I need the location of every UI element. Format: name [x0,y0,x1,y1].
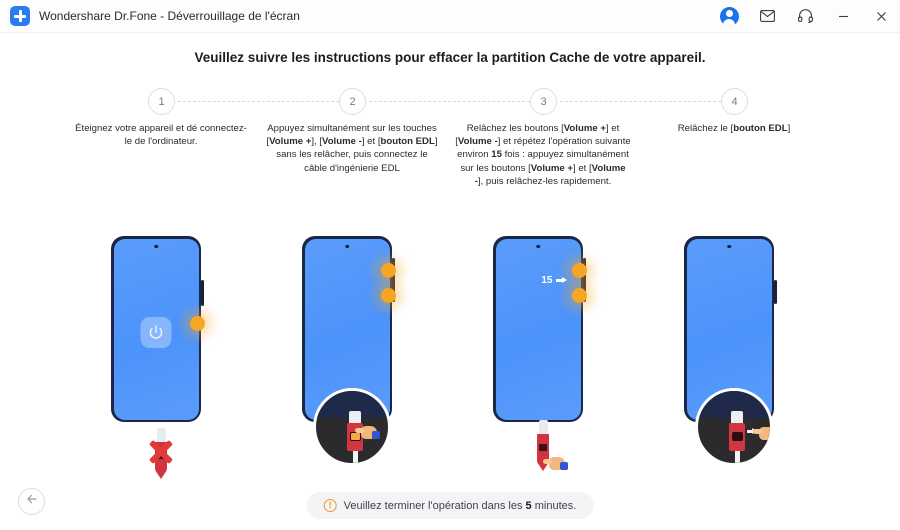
phone-illustration-3: 15 [448,236,638,482]
repeat-count-value: 15 [541,275,552,286]
mail-button[interactable] [748,0,786,33]
camera-dot-icon [536,245,540,249]
account-icon [720,7,739,26]
cable-wire [353,451,358,466]
phone-screen [114,239,199,420]
support-button[interactable] [786,0,824,33]
instruction-step-3: Relâchez les boutons [Volume +] et [Volu… [448,122,638,188]
stepper-connector [178,101,339,102]
cable-tip [731,411,743,423]
timer-notice: ! Veuillez terminer l'opération dans les… [307,492,594,519]
press-highlight-volume-up [572,263,587,278]
magnifier-bubble [695,388,773,466]
hand-cuff [372,431,380,439]
dr-fone-logo-icon [10,6,30,26]
mail-icon [760,10,775,22]
cable-connector [729,423,745,451]
support-headset-icon [798,9,813,23]
arrow-left-icon [25,492,39,511]
press-highlight-volume-down [572,288,587,303]
instruction-columns: Éteignez votre appareil et dé connectez-… [0,122,900,482]
hand-cuff [560,462,568,470]
page-title: Veuillez suivre les instructions pour ef… [0,50,900,65]
phone-illustration-1 [66,236,256,482]
stepper-connector [369,101,530,102]
step-caption-4: Relâchez le [bouton EDL] [646,122,822,135]
camera-dot-icon [154,245,158,249]
step-indicator-3: 3 [530,88,557,115]
camera-dot-icon [727,245,731,249]
step-caption-2: Appuyez simultanément sur les touches [V… [264,122,440,175]
phone-illustration-2 [257,236,447,482]
back-button[interactable] [18,488,45,515]
window-controls [710,0,900,33]
magnifier-bubble [313,388,391,466]
press-highlight-volume-up [381,263,396,278]
repeat-counter: 15 [541,275,566,286]
minimize-icon [837,10,850,23]
hand-finger [753,429,762,434]
usb-cable-disconnect [155,428,167,479]
app-window: Wondershare Dr.Fone - Déverrouillage de … [0,0,900,530]
disconnect-x-icon [147,438,175,466]
pointing-hand-icon [544,454,566,472]
hand-cuff [770,432,773,440]
phone-illustration-4 [639,236,829,482]
magnified-cable [729,411,745,466]
cable-tip [539,420,548,434]
stepper: 1 2 3 4 [148,88,752,116]
step-indicator-2: 2 [339,88,366,115]
pointing-hand-icon [754,424,773,442]
account-button[interactable] [710,0,748,33]
timer-notice-text: Veuillez terminer l'opération dans les 5… [344,500,577,512]
title-bar: Wondershare Dr.Fone - Déverrouillage de … [0,0,900,33]
cable-tip [349,411,361,423]
hand-finger [355,428,364,433]
app-title: Wondershare Dr.Fone - Déverrouillage de … [39,9,300,23]
edl-button [540,445,547,450]
stepper-connector [560,101,721,102]
phone-frame: 15 [493,236,583,422]
camera-dot-icon [345,245,349,249]
arrow-right-icon [556,277,567,284]
press-highlight-power [190,316,205,331]
phone-screen: 15 [496,239,581,420]
step-indicator-4: 4 [721,88,748,115]
phone-frame [111,236,201,422]
cable-plug-foot [155,470,167,479]
power-side-button [201,280,204,306]
close-button[interactable] [862,0,900,33]
power-icon [141,317,172,348]
instruction-step-2: Appuyez simultanément sur les touches [V… [257,122,447,175]
press-highlight-volume-down [381,288,396,303]
instruction-step-4: Relâchez le [bouton EDL] [639,122,829,135]
step-indicator-1: 1 [148,88,175,115]
step-caption-1: Éteignez votre appareil et dé connectez-… [73,122,249,148]
minimize-button[interactable] [824,0,862,33]
instruction-step-1: Éteignez votre appareil et dé connectez-… [66,122,256,148]
close-icon [875,10,888,23]
pointing-hand-icon [356,423,378,441]
hand-finger [543,459,552,464]
volume-side-buttons [774,280,777,304]
step-caption-3: Relâchez les boutons [Volume +] et [Volu… [455,122,631,188]
warning-icon: ! [324,499,337,512]
cable-wire [735,451,740,466]
